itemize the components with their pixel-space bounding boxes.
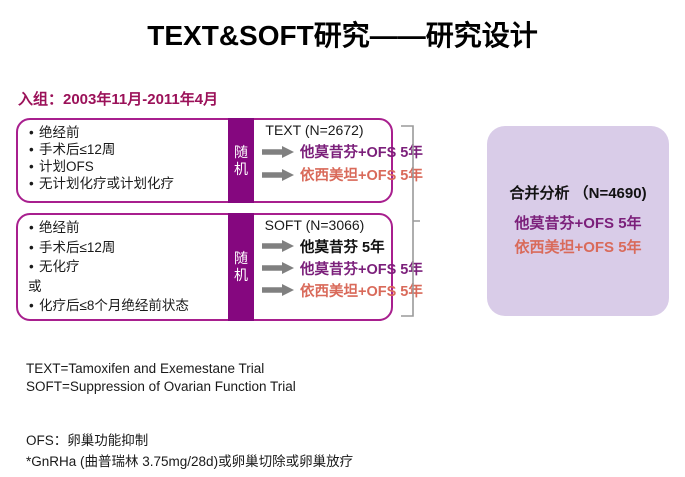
text-trial-header: TEXT (N=2672)	[262, 122, 385, 138]
footnote-line: *GnRHa (曲普瑞林 3.75mg/28d)或卵巢切除或卵巢放疗	[26, 451, 353, 472]
soft-trial-arm-row: 他莫昔芬 5年	[262, 235, 385, 257]
soft-trial-header: SOFT (N=3066)	[262, 217, 385, 233]
text-trial-randomization-bar: 随 机	[228, 118, 254, 203]
randomization-char: 机	[234, 161, 248, 178]
soft-trial-arm-label: 他莫昔芬 5年	[300, 236, 385, 257]
list-item: 无计划化疗或计划化疗	[28, 175, 226, 192]
list-item: 无化疗	[28, 257, 226, 277]
enrollment-period-label: 入组：2003年11月-2011年4月	[18, 88, 218, 109]
soft-trial-arm-row: 他莫昔芬+OFS 5年	[262, 257, 385, 279]
combined-analysis-arm: 依西美坦+OFS 5年	[514, 236, 641, 260]
randomization-char: 随	[234, 144, 248, 161]
combined-analysis-box: 合并分析 （N=4690) 他莫昔芬+OFS 5年 依西美坦+OFS 5年	[487, 126, 669, 316]
text-trial-box: 绝经前 手术后≤12周 计划OFS 无计划化疗或计划化疗 随 机 TEXT (N…	[16, 118, 393, 203]
right-arrow-icon	[262, 169, 294, 181]
randomization-char: 随	[234, 250, 248, 267]
merge-bracket	[399, 125, 421, 317]
footnote-line: OFS：卵巢功能抑制	[26, 430, 353, 451]
right-arrow-icon	[262, 146, 294, 158]
soft-trial-box: 绝经前 手术后≤12周 无化疗 或 化疗后≤8个月绝经前状态 随 机 SOFT …	[16, 213, 393, 321]
soft-trial-randomization-bar: 随 机	[228, 213, 254, 321]
list-item: 绝经前	[28, 218, 226, 238]
right-arrow-icon	[262, 262, 294, 274]
soft-trial-arms: SOFT (N=3066) 他莫昔芬 5年 他莫昔芬+OFS 5年 依西美坦+O…	[262, 217, 385, 301]
combined-analysis-title: 合并分析 （N=4690)	[509, 182, 646, 203]
list-item: 或	[28, 277, 226, 297]
text-trial-eligibility-list: 绝经前 手术后≤12周 计划OFS 无计划化疗或计划化疗	[28, 124, 226, 192]
list-item: 绝经前	[28, 124, 226, 141]
text-trial-arms: TEXT (N=2672) 他莫昔芬+OFS 5年 依西美坦+OFS 5年	[262, 122, 385, 186]
list-item: 计划OFS	[28, 158, 226, 175]
footnote-notes: OFS：卵巢功能抑制 *GnRHa (曲普瑞林 3.75mg/28d)或卵巢切除…	[26, 430, 353, 472]
right-arrow-icon	[262, 240, 294, 252]
list-item: 化疗后≤8个月绝经前状态	[28, 296, 226, 316]
randomization-char: 机	[234, 267, 248, 284]
list-item: 手术后≤12周	[28, 141, 226, 158]
soft-trial-eligibility-list: 绝经前 手术后≤12周 无化疗 或 化疗后≤8个月绝经前状态	[28, 218, 226, 316]
abbreviation-line: TEXT=Tamoxifen and Exemestane Trial	[26, 360, 296, 378]
abbreviation-line: SOFT=Suppression of Ovarian Function Tri…	[26, 378, 296, 396]
combined-analysis-arm: 他莫昔芬+OFS 5年	[514, 212, 641, 236]
list-item: 手术后≤12周	[28, 238, 226, 258]
text-trial-arm-row: 依西美坦+OFS 5年	[262, 163, 385, 186]
text-trial-arm-row: 他莫昔芬+OFS 5年	[262, 140, 385, 163]
abbreviation-notes: TEXT=Tamoxifen and Exemestane Trial SOFT…	[26, 360, 296, 396]
page-title: TEXT&SOFT研究——研究设计	[0, 14, 685, 54]
right-arrow-icon	[262, 284, 294, 296]
soft-trial-arm-row: 依西美坦+OFS 5年	[262, 279, 385, 301]
